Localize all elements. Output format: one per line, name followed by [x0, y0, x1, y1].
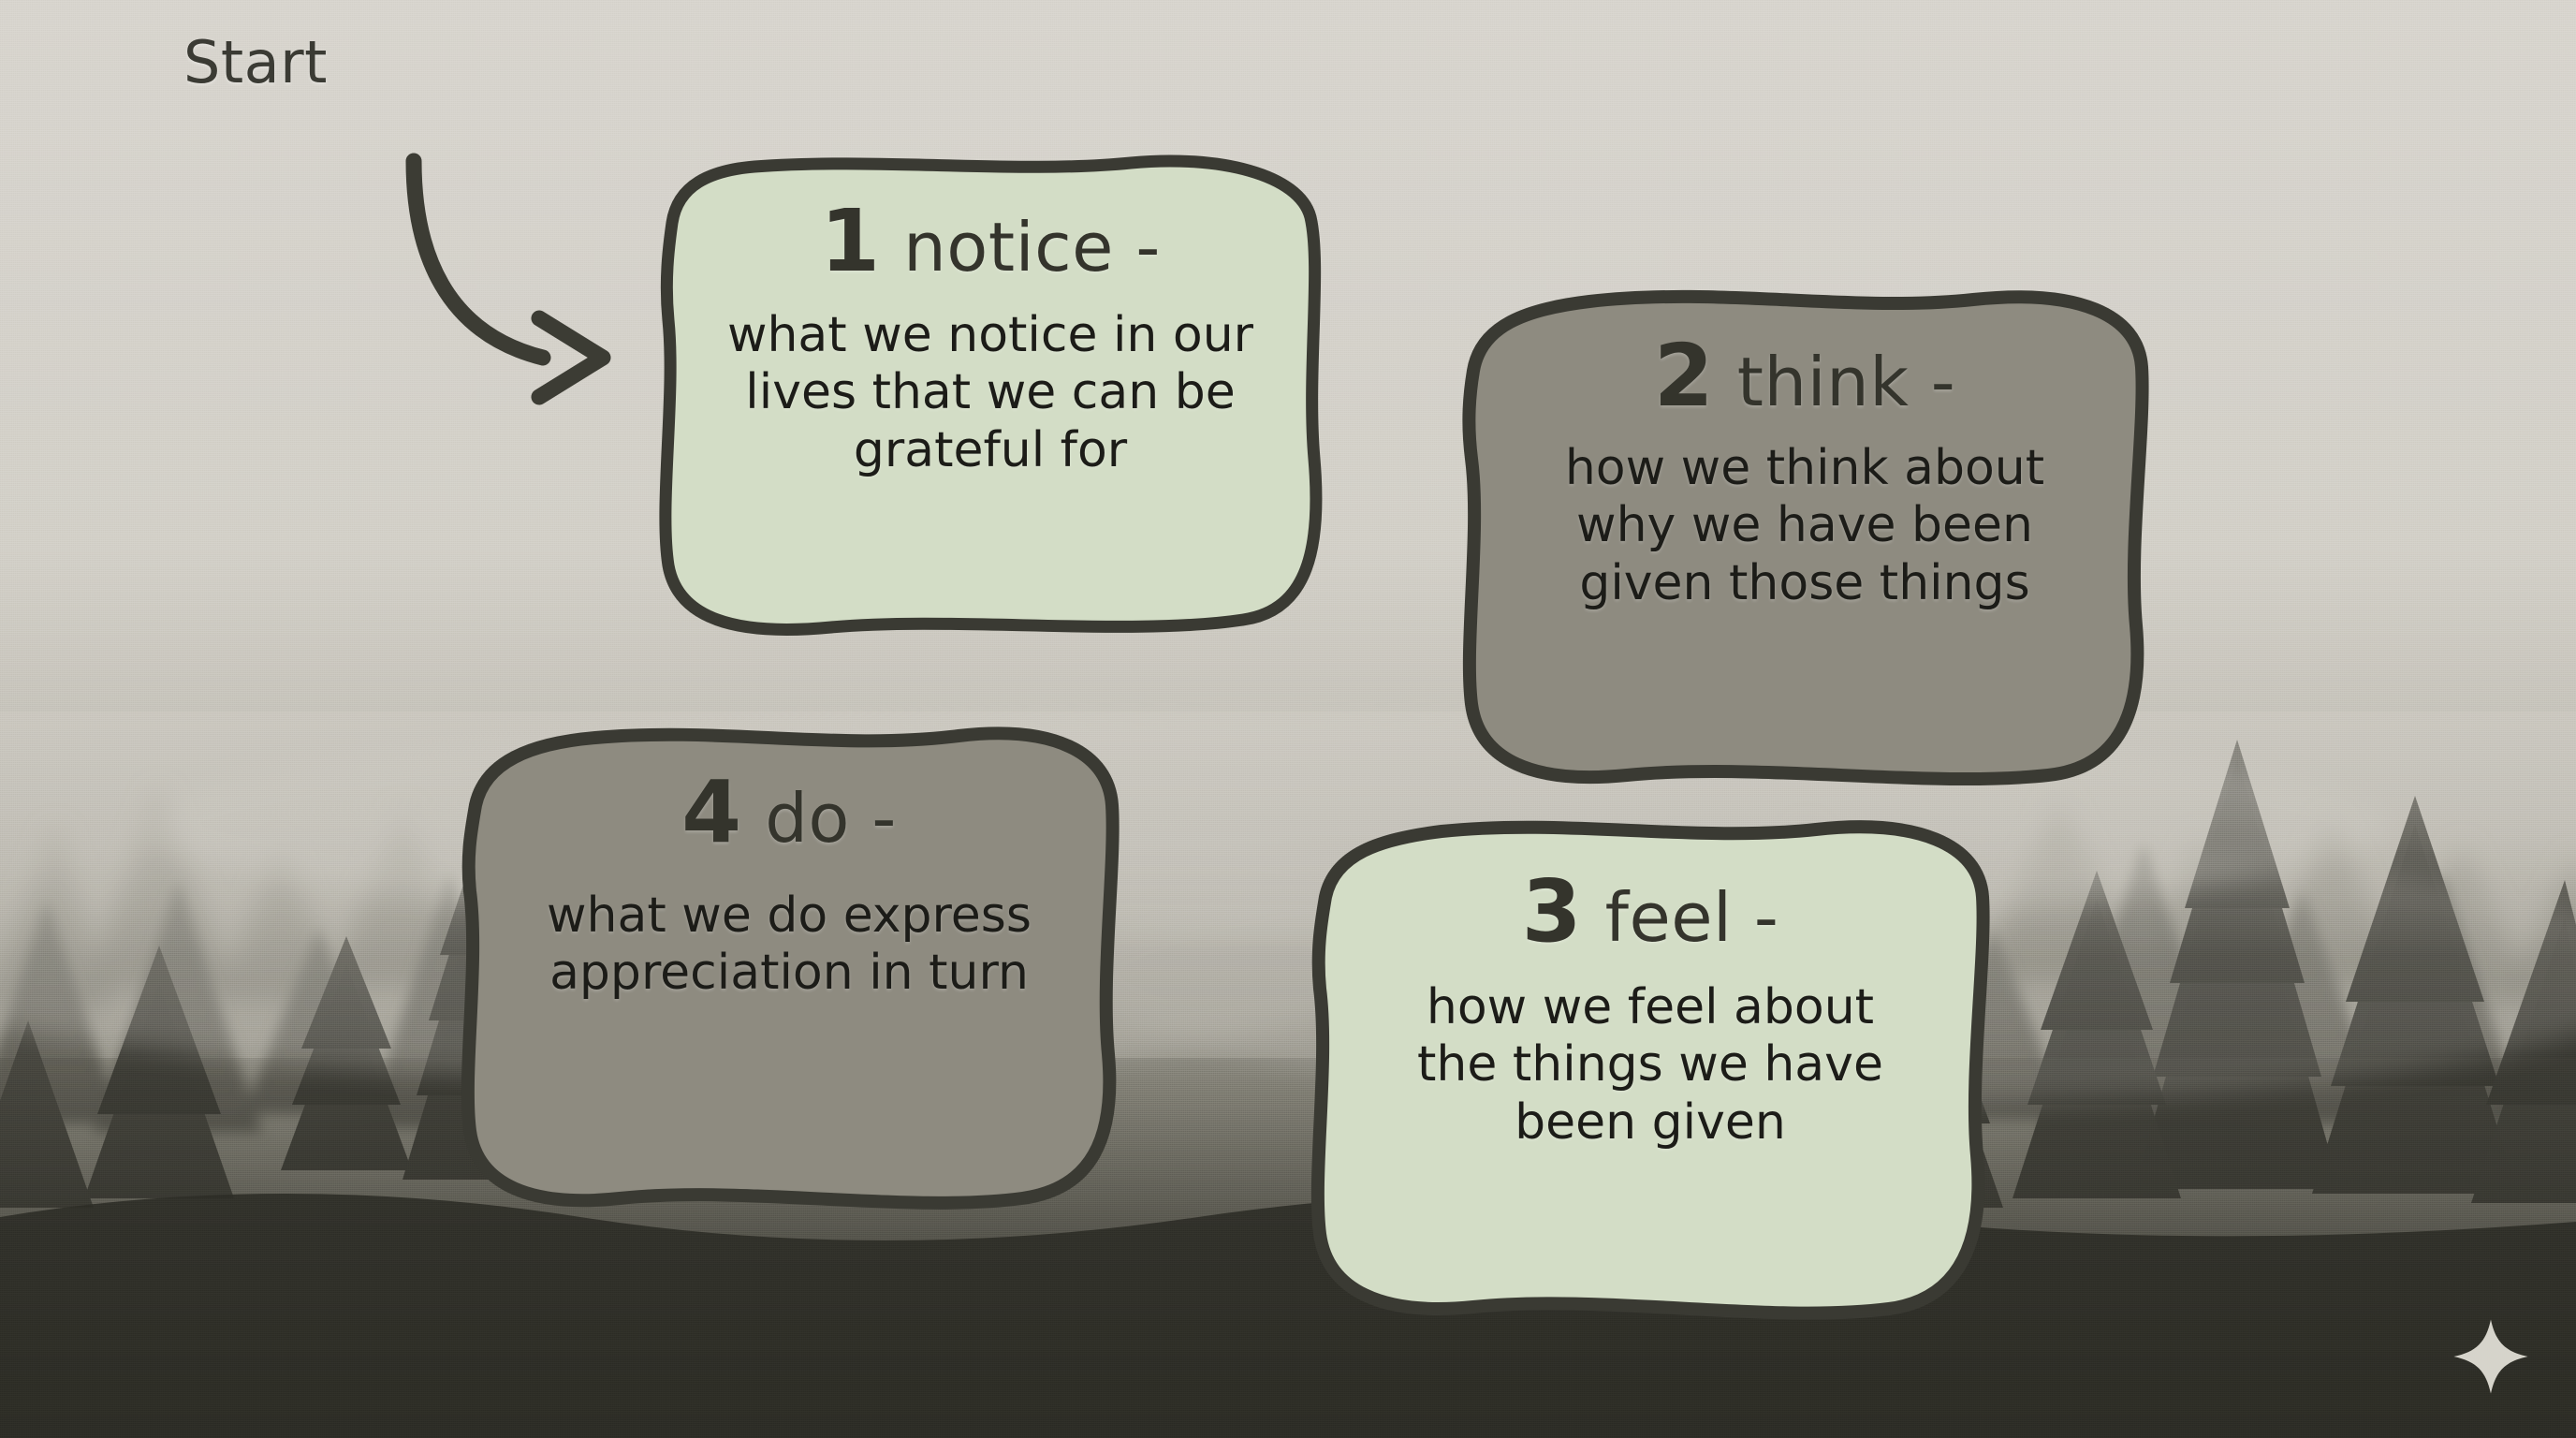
step-card-3-header: 3 feel - — [1522, 869, 1779, 955]
step-description: what we notice in our lives that we can … — [727, 307, 1253, 479]
step-card-2-header: 2 think - — [1654, 333, 1956, 419]
step-card-3[interactable]: 3 feel - how we feel about the things we… — [1299, 814, 2001, 1339]
curved-arrow-icon — [356, 140, 693, 421]
step-number: 4 — [681, 770, 740, 856]
step-number: 2 — [1654, 333, 1713, 419]
step-description: how we feel about the things we have bee… — [1417, 979, 1883, 1152]
step-description: what we do express appreciation in turn — [547, 888, 1032, 1003]
step-card-1[interactable]: 1 notice - what we notice in our lives t… — [644, 150, 1337, 646]
step-description: how we think about why we have been give… — [1565, 440, 2044, 612]
step-word: think - — [1737, 348, 1956, 416]
step-card-1-header: 1 notice - — [820, 198, 1161, 285]
diagram-canvas: Start 1 notice - what we notice in our l… — [0, 0, 2576, 1438]
step-word: do - — [765, 785, 897, 852]
step-card-4-header: 4 do - — [681, 770, 897, 856]
step-word: notice - — [903, 213, 1161, 281]
step-card-4[interactable]: 4 do - what we do express appreciation i… — [447, 721, 1131, 1226]
sparkle-icon — [2451, 1316, 2531, 1397]
step-number: 1 — [820, 198, 879, 285]
step-word: feel - — [1605, 884, 1779, 951]
step-card-2[interactable]: 2 think - how we think about why we have… — [1449, 281, 2160, 805]
step-number: 3 — [1522, 869, 1581, 955]
start-label: Start — [183, 34, 328, 92]
